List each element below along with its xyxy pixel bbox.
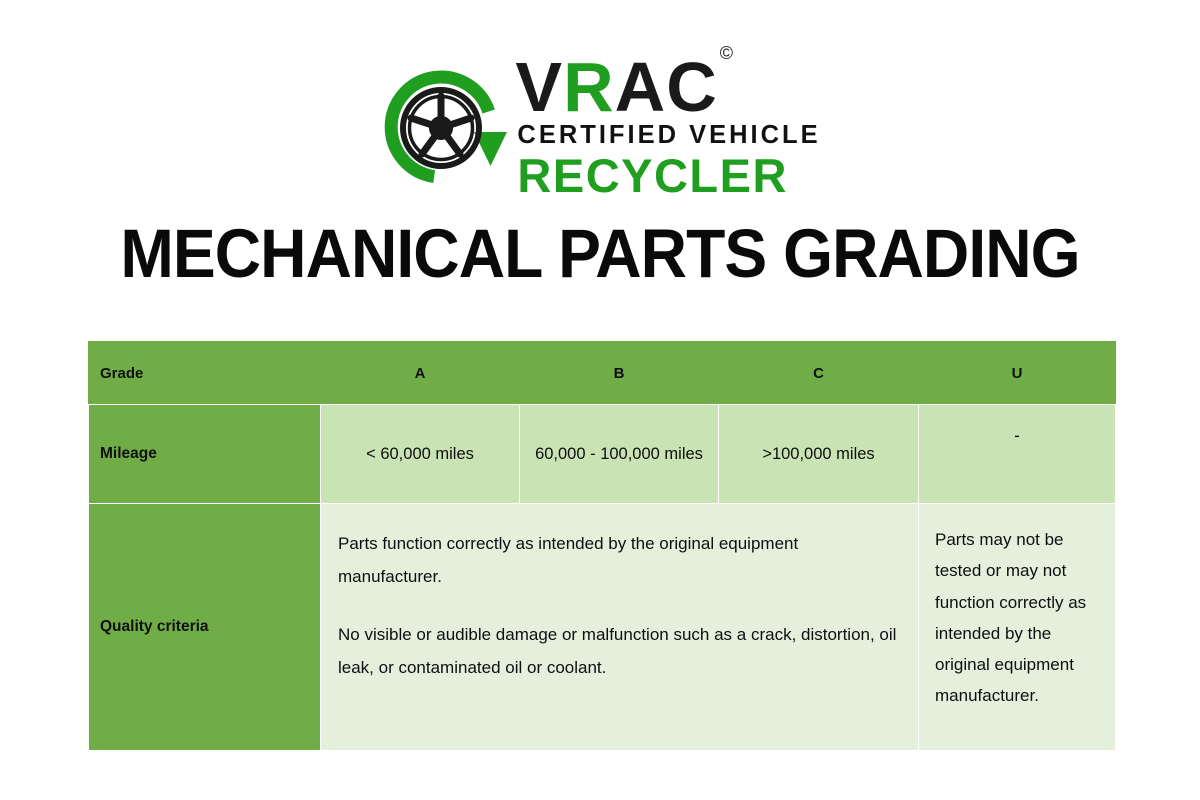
header-cell-u: U (919, 342, 1116, 405)
quality-cell-u: Parts may not be tested or may not funct… (919, 504, 1116, 751)
recycling-wheel-icon (379, 62, 509, 192)
logo-letter-v: V (515, 48, 563, 126)
header-cell-a: A (321, 342, 520, 405)
row-label-mileage: Mileage (89, 405, 321, 504)
logo-vrac-text: VRAC© (515, 55, 732, 119)
mechanical-parts-grading-table: Grade A B C U Mileage < 60,000 miles 60,… (88, 341, 1116, 751)
quality-paragraph-2: No visible or audible damage or malfunct… (338, 619, 902, 684)
logo-wordmark-group: VRAC© CERTIFIED VEHICLE RECYCLER (515, 55, 820, 199)
logo-letters-ac: AC (615, 48, 718, 126)
logo-inner: VRAC© CERTIFIED VEHICLE RECYCLER (379, 55, 820, 199)
table-header-row: Grade A B C U (89, 342, 1116, 405)
logo-tagline: CERTIFIED VEHICLE (517, 123, 820, 149)
header-cell-c: C (719, 342, 919, 405)
page-title: MECHANICAL PARTS GRADING (42, 214, 1158, 293)
mileage-cell-c: >100,000 miles (719, 405, 919, 504)
brand-logo: VRAC© CERTIFIED VEHICLE RECYCLER (0, 52, 1200, 202)
row-label-quality-criteria: Quality criteria (89, 504, 321, 751)
table-row-quality-criteria: Quality criteria Parts function correctl… (89, 504, 1116, 751)
quality-cell-abc: Parts function correctly as intended by … (321, 504, 919, 751)
mileage-cell-u: - (919, 405, 1116, 504)
table-row-mileage: Mileage < 60,000 miles 60,000 - 100,000 … (89, 405, 1116, 504)
logo-letter-r: R (563, 48, 615, 126)
quality-paragraph-1: Parts function correctly as intended by … (338, 528, 902, 593)
mileage-cell-b: 60,000 - 100,000 miles (520, 405, 719, 504)
copyright-icon: © (720, 43, 734, 63)
logo-recycler-text: RECYCLER (517, 152, 788, 199)
header-cell-grade: Grade (89, 342, 321, 405)
mileage-cell-a: < 60,000 miles (321, 405, 520, 504)
header-cell-b: B (520, 342, 719, 405)
